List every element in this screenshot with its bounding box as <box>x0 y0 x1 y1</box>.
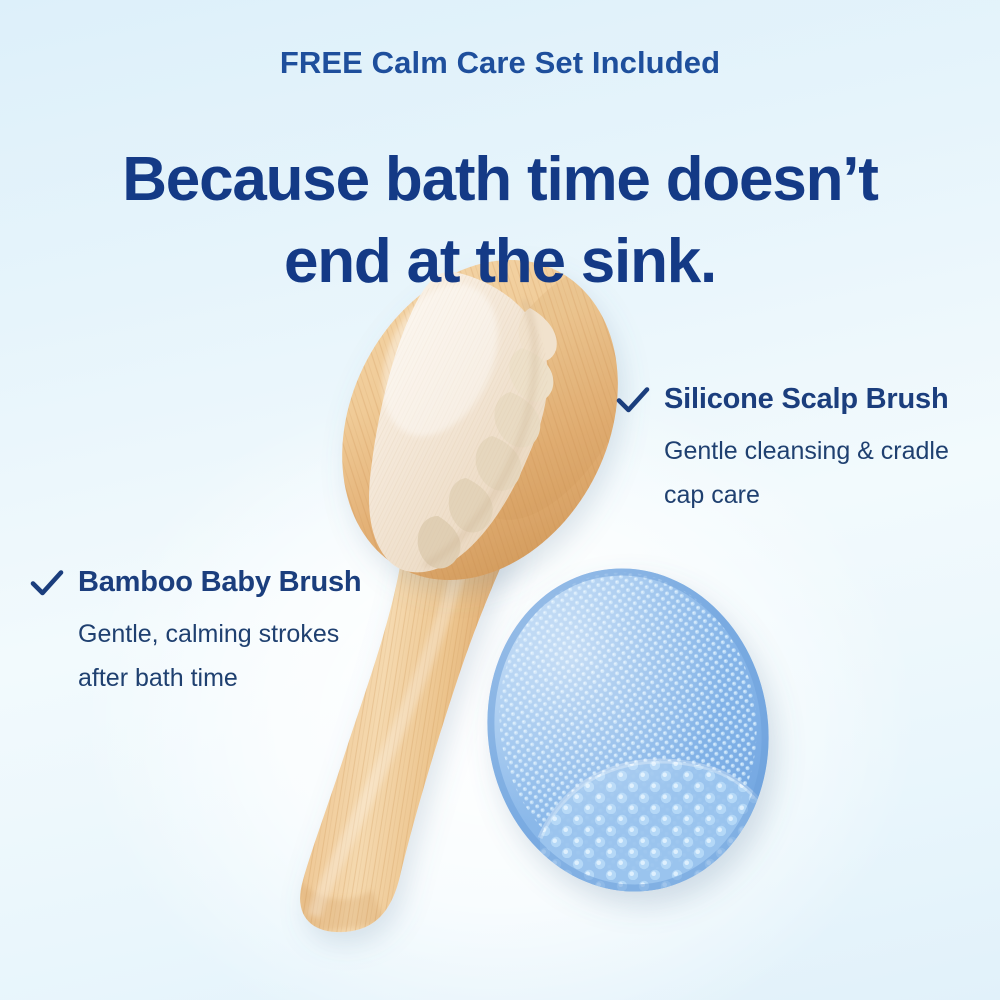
check-icon <box>616 385 650 415</box>
feature-description-line-2: after bath time <box>78 656 361 700</box>
feature-description-line-1: Gentle, calming strokes <box>78 612 361 656</box>
eyebrow-text: FREE Calm Care Set Included <box>0 45 1000 81</box>
feature-title-row: Silicone Scalp Brush <box>616 383 949 416</box>
check-icon <box>30 568 64 598</box>
feature-title: Bamboo Baby Brush <box>78 566 361 599</box>
feature-description: Gentle cleansing & cradle cap care <box>664 429 949 517</box>
feature-description: Gentle, calming strokes after bath time <box>78 612 361 700</box>
feature-bamboo-baby-brush: Bamboo Baby Brush Gentle, calming stroke… <box>30 566 361 700</box>
feature-title-row: Bamboo Baby Brush <box>30 566 361 599</box>
silicone-scalp-brush-image <box>464 548 791 912</box>
feature-title: Silicone Scalp Brush <box>664 383 948 416</box>
headline-line-1: Because bath time doesn’t <box>122 145 878 214</box>
feature-silicone-scalp-brush: Silicone Scalp Brush Gentle cleansing & … <box>616 383 949 517</box>
page-title: Because bath time doesn’t end at the sin… <box>0 139 1000 303</box>
headline-line-2: end at the sink. <box>0 221 1000 303</box>
promo-image: FREE Calm Care Set Included Because bath… <box>0 0 1000 1000</box>
feature-description-line-2: cap care <box>664 473 949 517</box>
feature-description-line-1: Gentle cleansing & cradle <box>664 429 949 473</box>
